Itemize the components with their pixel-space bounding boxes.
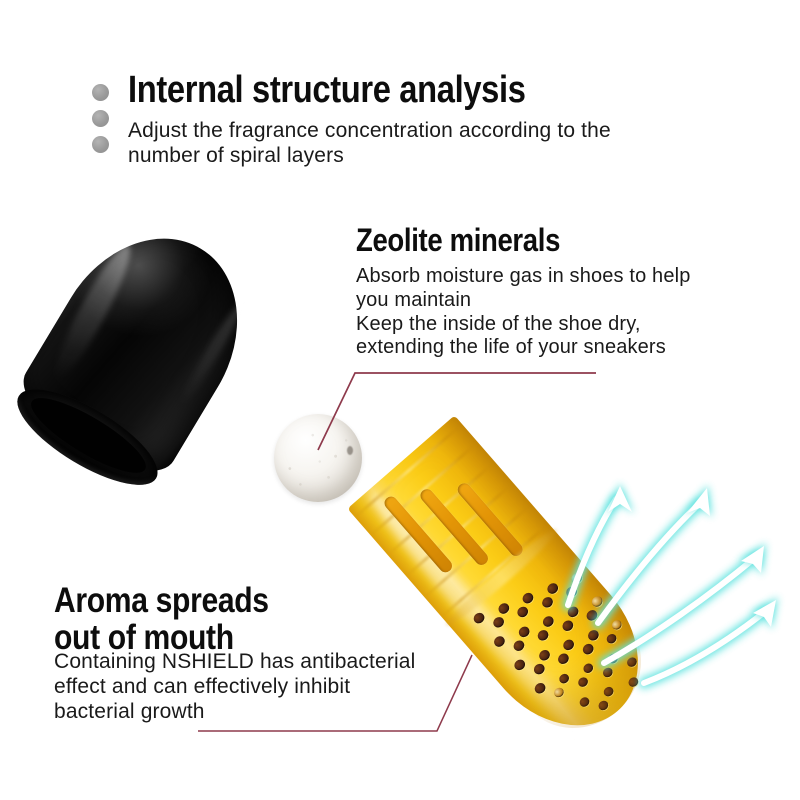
bullet-dot-2 bbox=[92, 110, 109, 127]
infographic-canvas: Internal structure analysis Adjust the f… bbox=[0, 0, 800, 800]
aroma-body-text: Containing NSHIELD has antibacterial eff… bbox=[54, 650, 474, 725]
ball-pit bbox=[347, 446, 353, 455]
title-heading: Internal structure analysis bbox=[128, 70, 526, 110]
zeolite-body-text: Absorb moisture gas in shoes to help you… bbox=[356, 265, 756, 360]
aroma-heading: Aroma spreads out of mouth bbox=[54, 582, 269, 656]
bullet-dot-group bbox=[92, 84, 109, 153]
ball-texture bbox=[274, 414, 362, 502]
zeolite-ball bbox=[274, 414, 362, 502]
zeolite-heading: Zeolite minerals bbox=[356, 224, 560, 258]
bullet-dot-3 bbox=[92, 136, 109, 153]
arrow-4 bbox=[644, 597, 778, 683]
bullet-dot-1 bbox=[92, 84, 109, 101]
black-cap bbox=[8, 204, 275, 491]
arrow-3 bbox=[604, 543, 766, 663]
aroma-flow-arrows bbox=[560, 455, 800, 670]
title-body-text: Adjust the fragrance concentration accor… bbox=[128, 119, 648, 169]
